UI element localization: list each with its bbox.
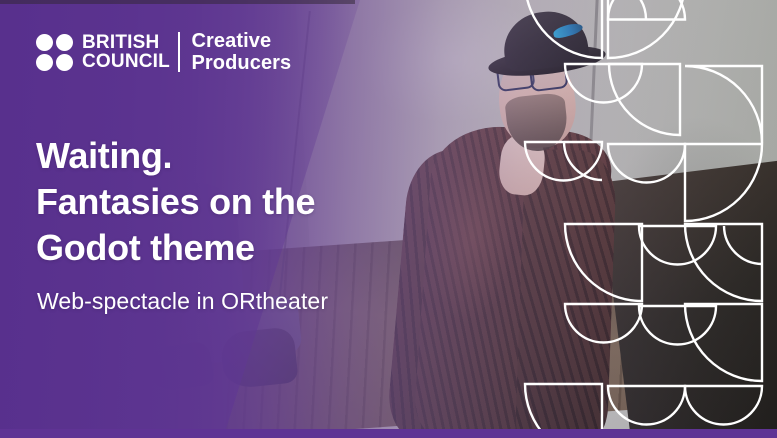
- programme-line-producers: Producers: [191, 52, 291, 74]
- headline-line-3: Godot theme: [36, 225, 315, 271]
- page-title: Waiting. Fantasies on the Godot theme: [36, 133, 315, 271]
- headline-line-1: Waiting.: [36, 133, 315, 179]
- logo-line-british: BRITISH: [82, 33, 170, 53]
- page-subtitle: Web-spectacle in ORtheater: [37, 288, 328, 315]
- british-council-logo[interactable]: BRITISH COUNCIL Creative Producers: [36, 30, 291, 74]
- british-council-wordmark: BRITISH COUNCIL: [82, 33, 170, 72]
- creative-producers-banner: BRITISH COUNCIL Creative Producers Waiti…: [0, 0, 777, 438]
- top-dark-strip: [0, 0, 355, 4]
- bottom-accent-bar: [0, 429, 777, 438]
- programme-wordmark: Creative Producers: [191, 30, 291, 74]
- programme-line-creative: Creative: [191, 30, 291, 52]
- logo-divider: [178, 32, 181, 72]
- headline-line-2: Fantasies on the: [36, 179, 315, 225]
- logo-line-council: COUNCIL: [82, 52, 170, 72]
- four-dots-icon: [36, 34, 73, 71]
